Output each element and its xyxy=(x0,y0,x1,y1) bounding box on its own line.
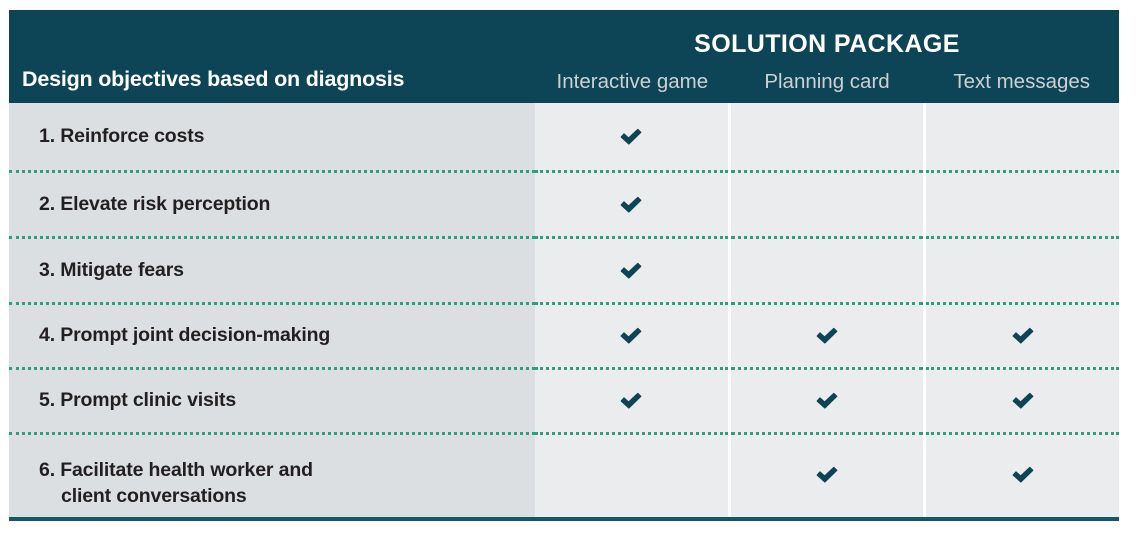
checkmark-icon xyxy=(1010,323,1036,349)
checkmark-icon xyxy=(814,323,840,349)
cell-r6-interactive-game xyxy=(535,432,728,514)
objective-label-column: 1. Reinforce costs 2. Elevate risk perce… xyxy=(9,103,535,517)
cell-r6-text-messages xyxy=(926,432,1119,514)
objective-text-6-line2: client conversations xyxy=(39,484,313,510)
checkmark-icon xyxy=(618,258,644,284)
cell-r6-planning-card xyxy=(731,432,924,514)
cell-r5-text-messages xyxy=(926,367,1119,432)
objective-text-4: 4. Prompt joint decision-making xyxy=(39,323,330,349)
table-row-3-label: 3. Mitigate fears xyxy=(9,236,535,302)
checkmark-icon xyxy=(618,388,644,414)
checkmark-icon xyxy=(814,462,840,488)
column-planning-card xyxy=(728,103,924,517)
cell-r1-planning-card xyxy=(731,103,924,170)
column-header-planning-card: Planning card xyxy=(730,72,925,93)
table-row-1-label: 1. Reinforce costs xyxy=(9,103,535,170)
objective-text-3: 3. Mitigate fears xyxy=(39,258,184,284)
row-header-cell: Design objectives based on diagnosis xyxy=(9,10,535,103)
column-header-interactive-game: Interactive game xyxy=(535,72,730,93)
cell-r2-planning-card xyxy=(731,170,924,236)
cell-r5-planning-card xyxy=(731,367,924,432)
table-row-6-label: 6. Facilitate health worker andclient co… xyxy=(9,432,535,514)
column-header-row: Interactive game Planning card Text mess… xyxy=(535,57,1119,103)
cell-r4-text-messages xyxy=(926,302,1119,367)
checkmark-icon xyxy=(618,124,644,150)
cell-r2-text-messages xyxy=(926,170,1119,236)
cell-r1-interactive-game xyxy=(535,103,728,170)
design-objectives-matrix: Design objectives based on diagnosis SOL… xyxy=(9,10,1119,521)
cell-r4-planning-card xyxy=(731,302,924,367)
objective-text-1: 1. Reinforce costs xyxy=(39,124,204,150)
objective-text-2: 2. Elevate risk perception xyxy=(39,192,270,218)
checkmark-icon xyxy=(618,192,644,218)
checkmark-icon xyxy=(618,323,644,349)
column-header-text-messages: Text messages xyxy=(924,72,1119,93)
solution-package-header-group: SOLUTION PACKAGE Interactive game Planni… xyxy=(535,10,1119,103)
cell-r4-interactive-game xyxy=(535,302,728,367)
cell-r3-planning-card xyxy=(731,236,924,302)
row-header-label: Design objectives based on diagnosis xyxy=(22,68,404,91)
group-header-title: SOLUTION PACKAGE xyxy=(535,10,1119,57)
cell-r1-text-messages xyxy=(926,103,1119,170)
table-body: 1. Reinforce costs 2. Elevate risk perce… xyxy=(9,103,1119,517)
column-text-messages xyxy=(923,103,1119,517)
table-row-4-label: 4. Prompt joint decision-making xyxy=(9,302,535,367)
cell-r3-interactive-game xyxy=(535,236,728,302)
objective-text-6: 6. Facilitate health worker andclient co… xyxy=(39,458,313,509)
table-row-2-label: 2. Elevate risk perception xyxy=(9,170,535,236)
checkmark-icon xyxy=(1010,388,1036,414)
table-figure: Design objectives based on diagnosis SOL… xyxy=(0,0,1140,534)
checkmark-icon xyxy=(1010,462,1036,488)
cell-r2-interactive-game xyxy=(535,170,728,236)
objective-text-6-line1: 6. Facilitate health worker and xyxy=(39,459,313,481)
checkmark-icon xyxy=(814,388,840,414)
table-header: Design objectives based on diagnosis SOL… xyxy=(9,10,1119,103)
solution-package-columns xyxy=(535,103,1119,517)
column-interactive-game xyxy=(535,103,728,517)
cell-r3-text-messages xyxy=(926,236,1119,302)
cell-r5-interactive-game xyxy=(535,367,728,432)
objective-text-5: 5. Prompt clinic visits xyxy=(39,388,236,414)
table-row-5-label: 5. Prompt clinic visits xyxy=(9,367,535,432)
